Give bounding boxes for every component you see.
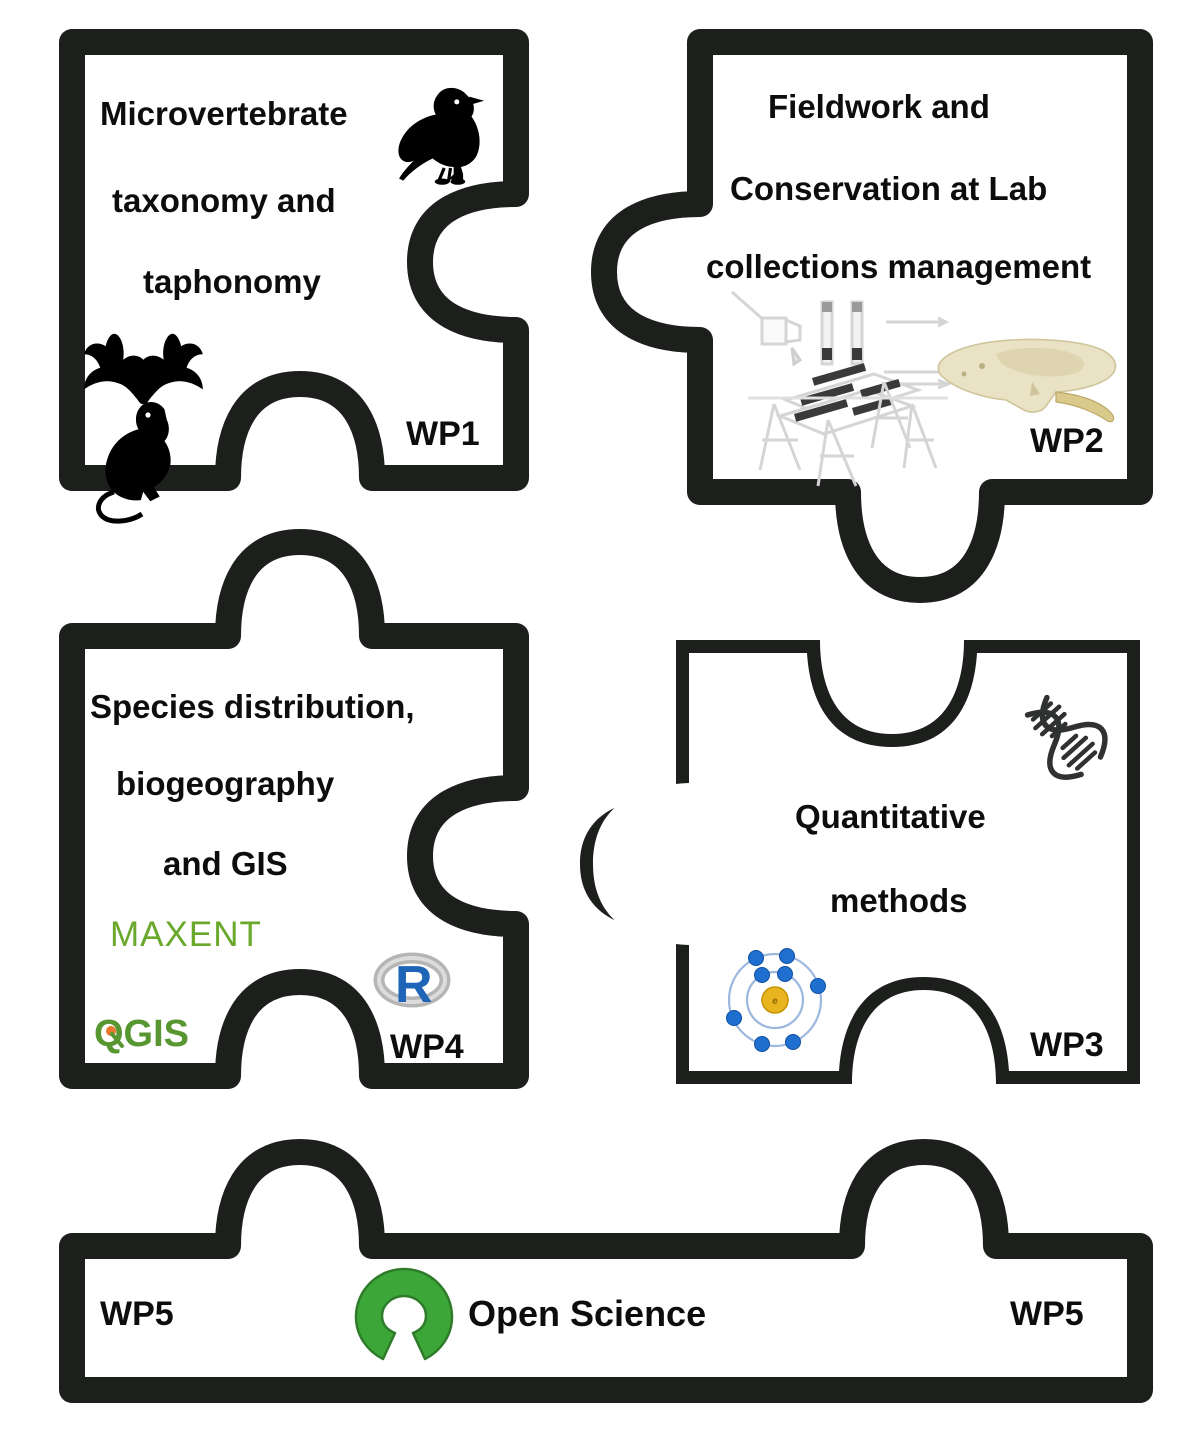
puzzle-piece-wp1[interactable]: Microvertebrate taxonomy and taphonomy W… [72, 42, 516, 521]
wp5-code-label-right: WP5 [1010, 1295, 1084, 1333]
open-science-label: Open Science [468, 1293, 706, 1334]
svg-text:R: R [395, 956, 433, 1014]
wp1-title-line-1: Microvertebrate [100, 95, 348, 132]
wp3-code-label: WP3 [1030, 1026, 1104, 1064]
wp4-outline [72, 542, 516, 1076]
wp5-outline [72, 1152, 1140, 1390]
wp4-title-line-1: Species distribution, [90, 688, 415, 725]
svg-text:e: e [772, 996, 778, 1007]
wp2-title-line-3: collections management [706, 248, 1091, 285]
puzzle-piece-wp5[interactable]: WP5 Open Science WP5 [72, 1152, 1140, 1390]
maxent-logo: MAXENT [110, 915, 262, 954]
wp3-title-line-1: Quantitative [795, 798, 986, 835]
puzzle-piece-wp2[interactable]: Fieldwork and Conservation at Lab collec… [604, 42, 1140, 590]
wp4-title-line-2: biogeography [116, 765, 335, 802]
wp3-title-line-2: methods [830, 882, 968, 919]
wp1-title-line-2: taxonomy and [112, 182, 336, 219]
puzzle-piece-wp4[interactable]: Species distribution, biogeography and G… [72, 542, 516, 1076]
wp2-title-line-1: Fieldwork and [768, 88, 990, 125]
wp2-code-label: WP2 [1030, 422, 1104, 460]
puzzle-piece-wp3[interactable]: Quantitative methods WP3 e [580, 640, 1140, 1084]
puzzle-figure: Microvertebrate taxonomy and taphonomy W… [0, 0, 1201, 1430]
qgis-logo: QGIS [94, 1013, 189, 1055]
wp1-title-line-3: taphonomy [143, 263, 321, 300]
wp2-title-line-2: Conservation at Lab [730, 170, 1047, 207]
figure-canvas: Microvertebrate taxonomy and taphonomy W… [0, 0, 1201, 1430]
wp4-title-line-3: and GIS [163, 845, 288, 882]
wp5-code-label-left: WP5 [100, 1295, 174, 1333]
wp1-code-label: WP1 [406, 415, 480, 453]
wp4-code-label: WP4 [390, 1028, 464, 1066]
